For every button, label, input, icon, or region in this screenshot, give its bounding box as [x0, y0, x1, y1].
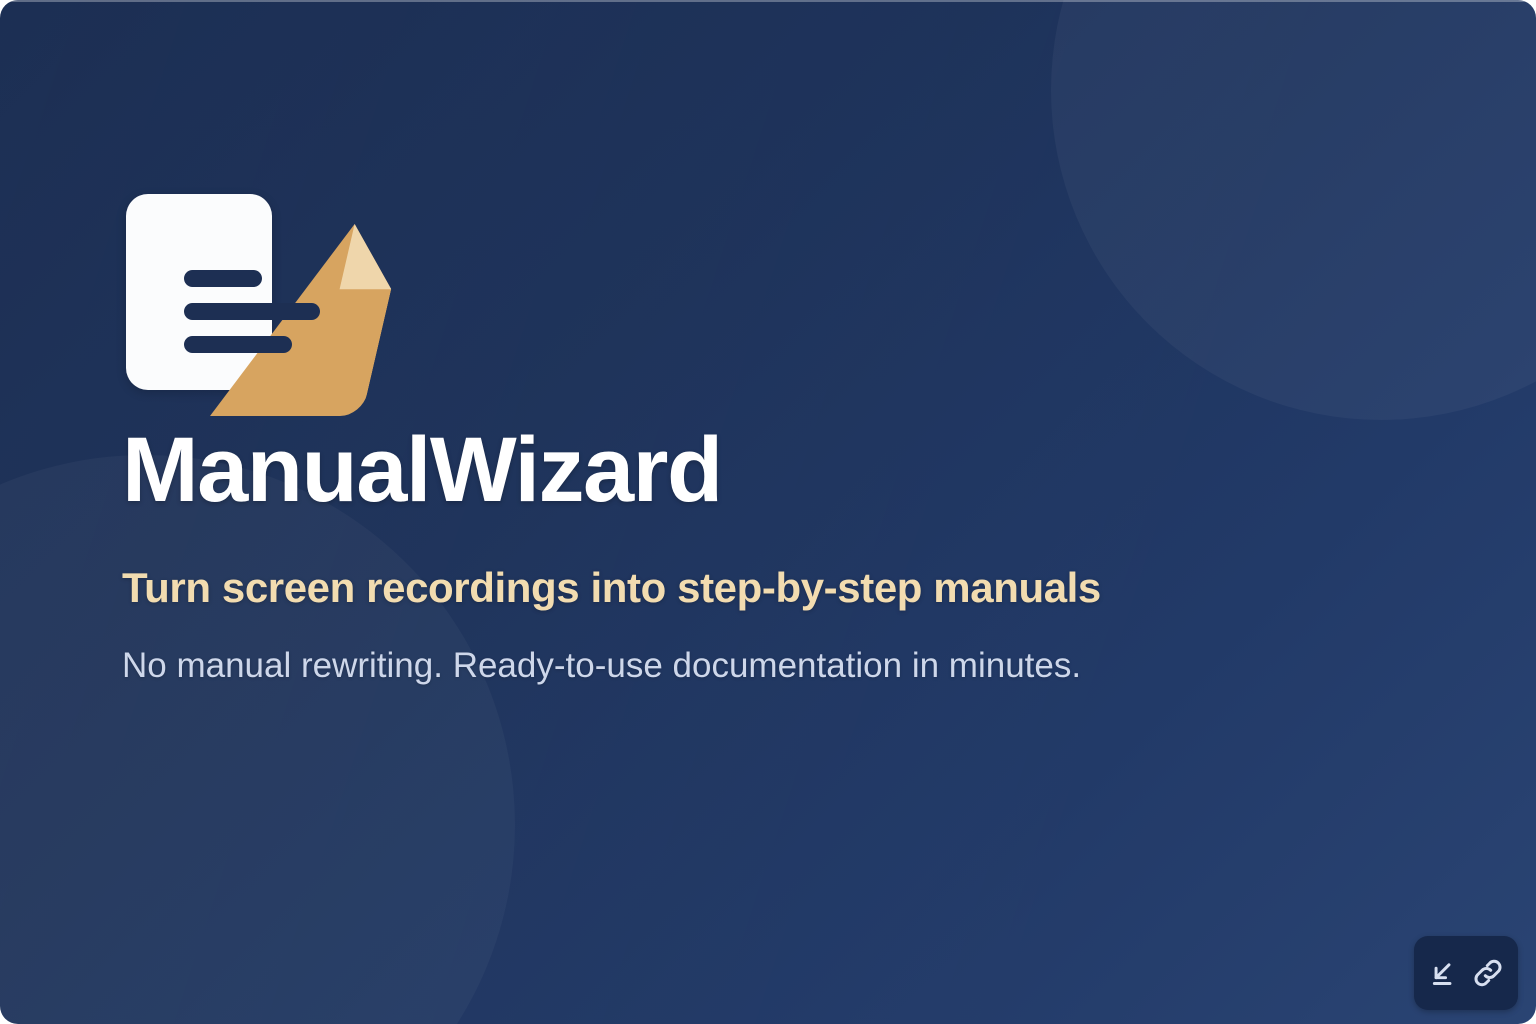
page-title: ManualWizard	[122, 424, 1382, 516]
tagline: Turn screen recordings into step-by-step…	[122, 564, 1382, 611]
link-icon[interactable]	[1471, 956, 1505, 990]
document-text-line-3-icon	[184, 336, 292, 353]
hero-content: ManualWizard Turn screen recordings into…	[122, 190, 1382, 687]
document-text-line-2-icon	[184, 303, 320, 320]
document-sheet-icon	[126, 194, 272, 390]
top-edge-hairline	[0, 0, 1536, 2]
collapse-corner-icon[interactable]	[1427, 956, 1461, 990]
document-text-line-1-icon	[184, 270, 262, 287]
subtext: No manual rewriting. Ready-to-use docume…	[122, 645, 1382, 687]
manualwizard-logo	[122, 190, 360, 418]
hero-card: ManualWizard Turn screen recordings into…	[0, 0, 1536, 1024]
action-badge[interactable]	[1414, 936, 1518, 1010]
